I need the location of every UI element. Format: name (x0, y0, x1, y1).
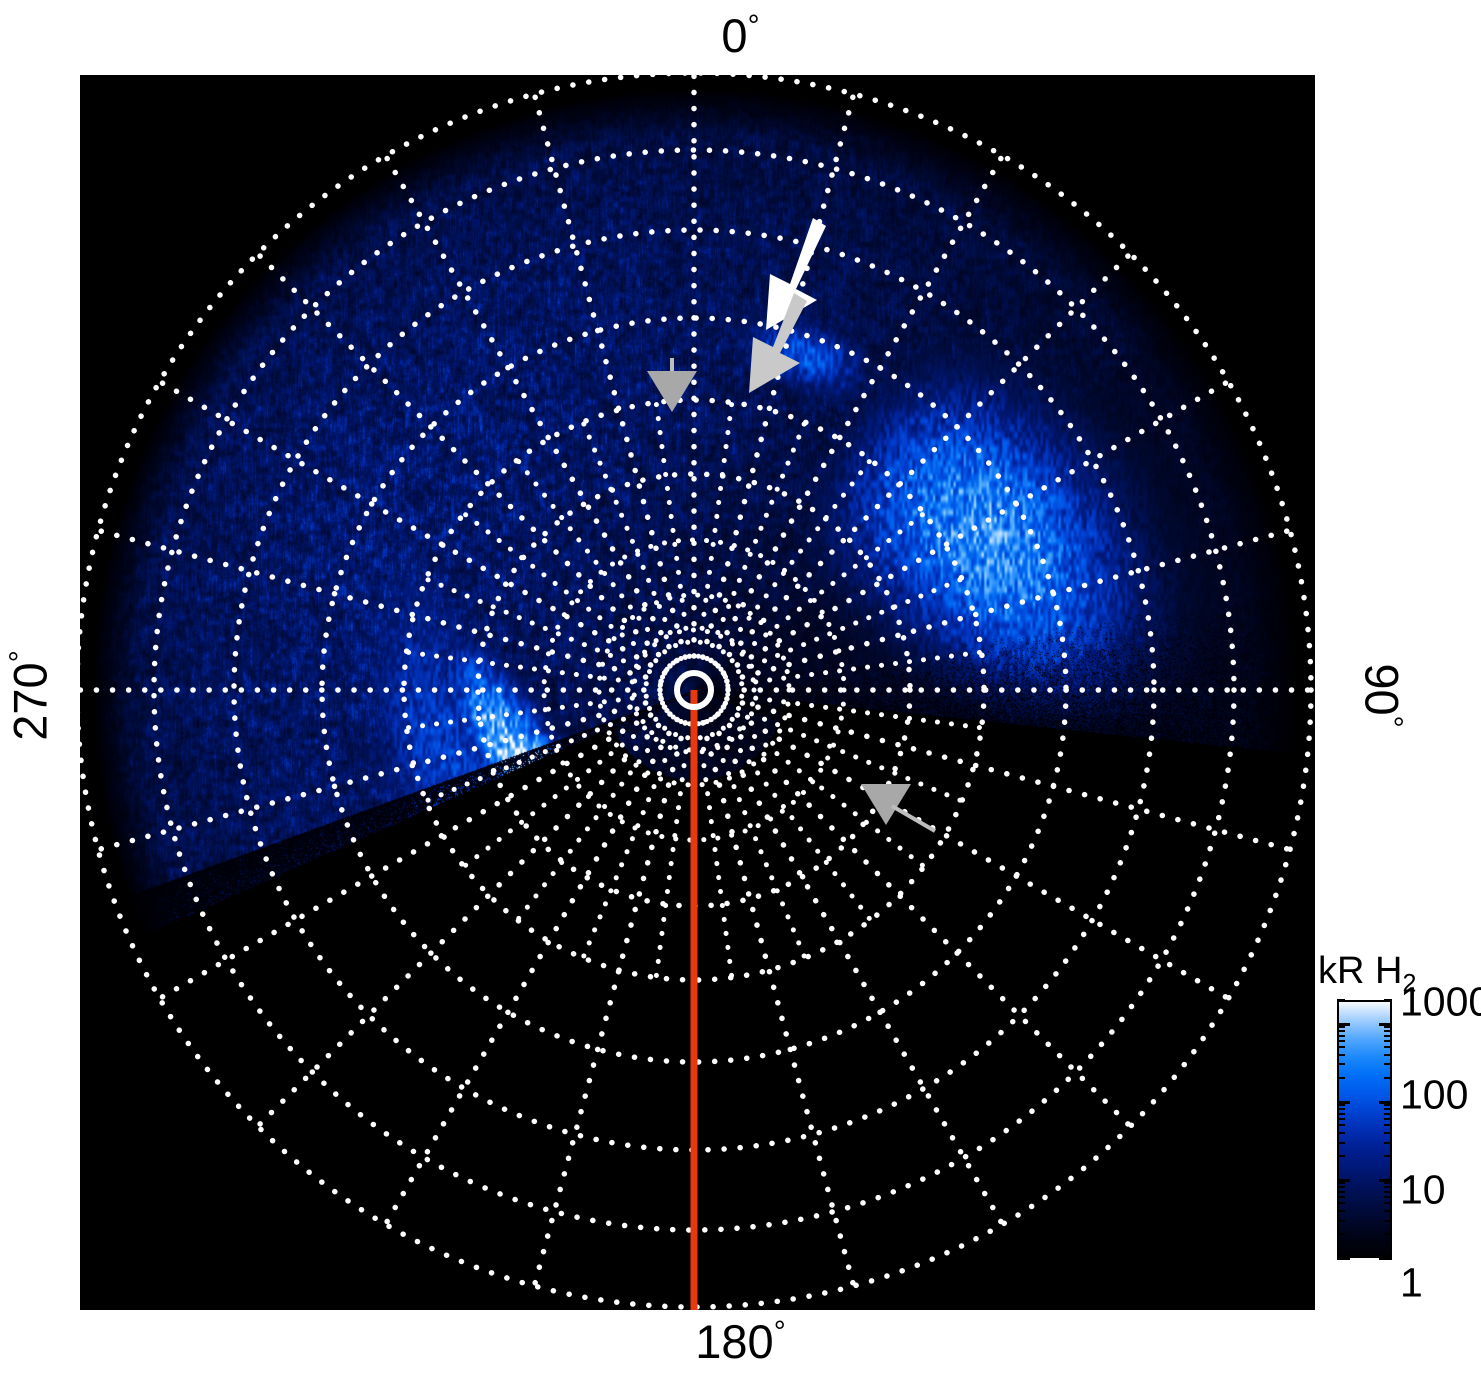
degree-symbol-right: ° (1375, 716, 1408, 728)
triangle-down-icon-2 (861, 784, 935, 831)
polar-plot-area (80, 75, 1315, 1310)
colorbar-ticks (1337, 1000, 1392, 1258)
axis-label-top-value: 0 (721, 9, 747, 62)
axis-label-bottom-value: 180 (695, 1315, 773, 1368)
axis-label-left-value: 270 (4, 662, 57, 740)
axis-label-right: 90° (1359, 606, 1406, 786)
colorbar-tick-label-100: 100 (1400, 1072, 1468, 1119)
axis-label-bottom: 180° (0, 1318, 1481, 1365)
polar-grid-overlay (80, 75, 1315, 1310)
colorbar-title-main: kR H (1318, 950, 1402, 992)
colorbar-tick-label-1000: 1000 (1400, 979, 1481, 1026)
axis-label-right-value: 90 (1356, 663, 1409, 715)
colorbar: kR H2 1000 100 10 1 (1318, 950, 1481, 1320)
axis-label-left: 270° (7, 606, 54, 786)
axis-label-top: 0° (0, 12, 1481, 59)
figure-canvas: 0° 180° 270° 90° kR H2 1000 100 10 1 (0, 0, 1481, 1384)
degree-symbol-bottom: ° (774, 1315, 786, 1348)
colorbar-tick-label-10: 10 (1400, 1167, 1446, 1214)
degree-symbol-left: ° (4, 650, 37, 662)
degree-symbol-top: ° (748, 9, 760, 42)
colorbar-tick-label-1: 1 (1400, 1260, 1423, 1307)
